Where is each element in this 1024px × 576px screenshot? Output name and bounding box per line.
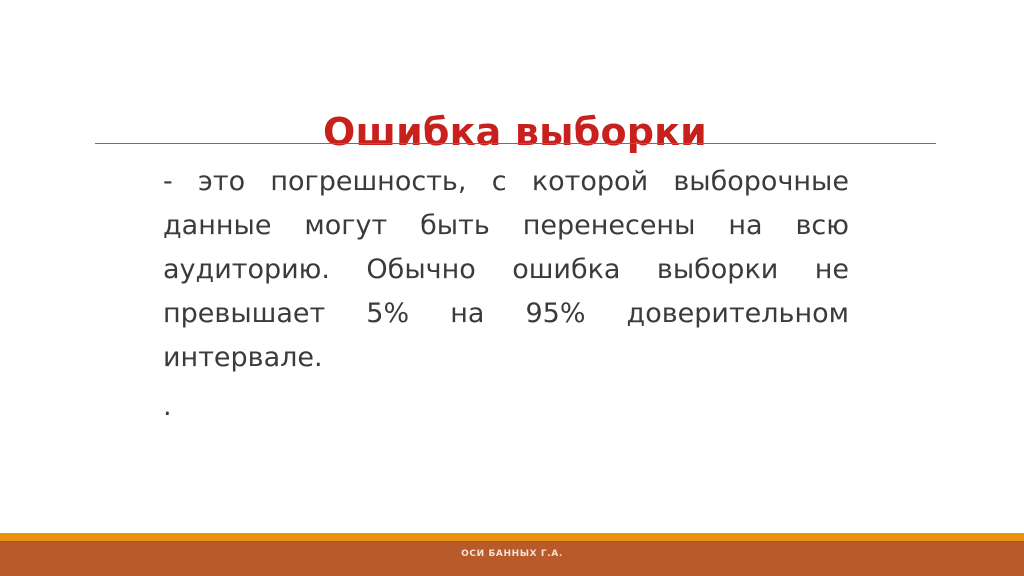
slide-canvas: Ошибка выборки - это погрешность, с кото… [0,0,1024,576]
title-divider [95,143,936,144]
footer-band-edge-line [0,541,1024,543]
footer-credit: Оси Банных Г.А. [0,548,1024,560]
footer-accent-stripe [0,533,1024,541]
body-paragraph-trailing-dot: . [163,385,849,429]
page-title: Ошибка выборки [95,107,935,157]
slide-body: - это погрешность, с которой выборочные … [163,160,849,429]
body-paragraph: - это погрешность, с которой выборочные … [163,160,849,380]
